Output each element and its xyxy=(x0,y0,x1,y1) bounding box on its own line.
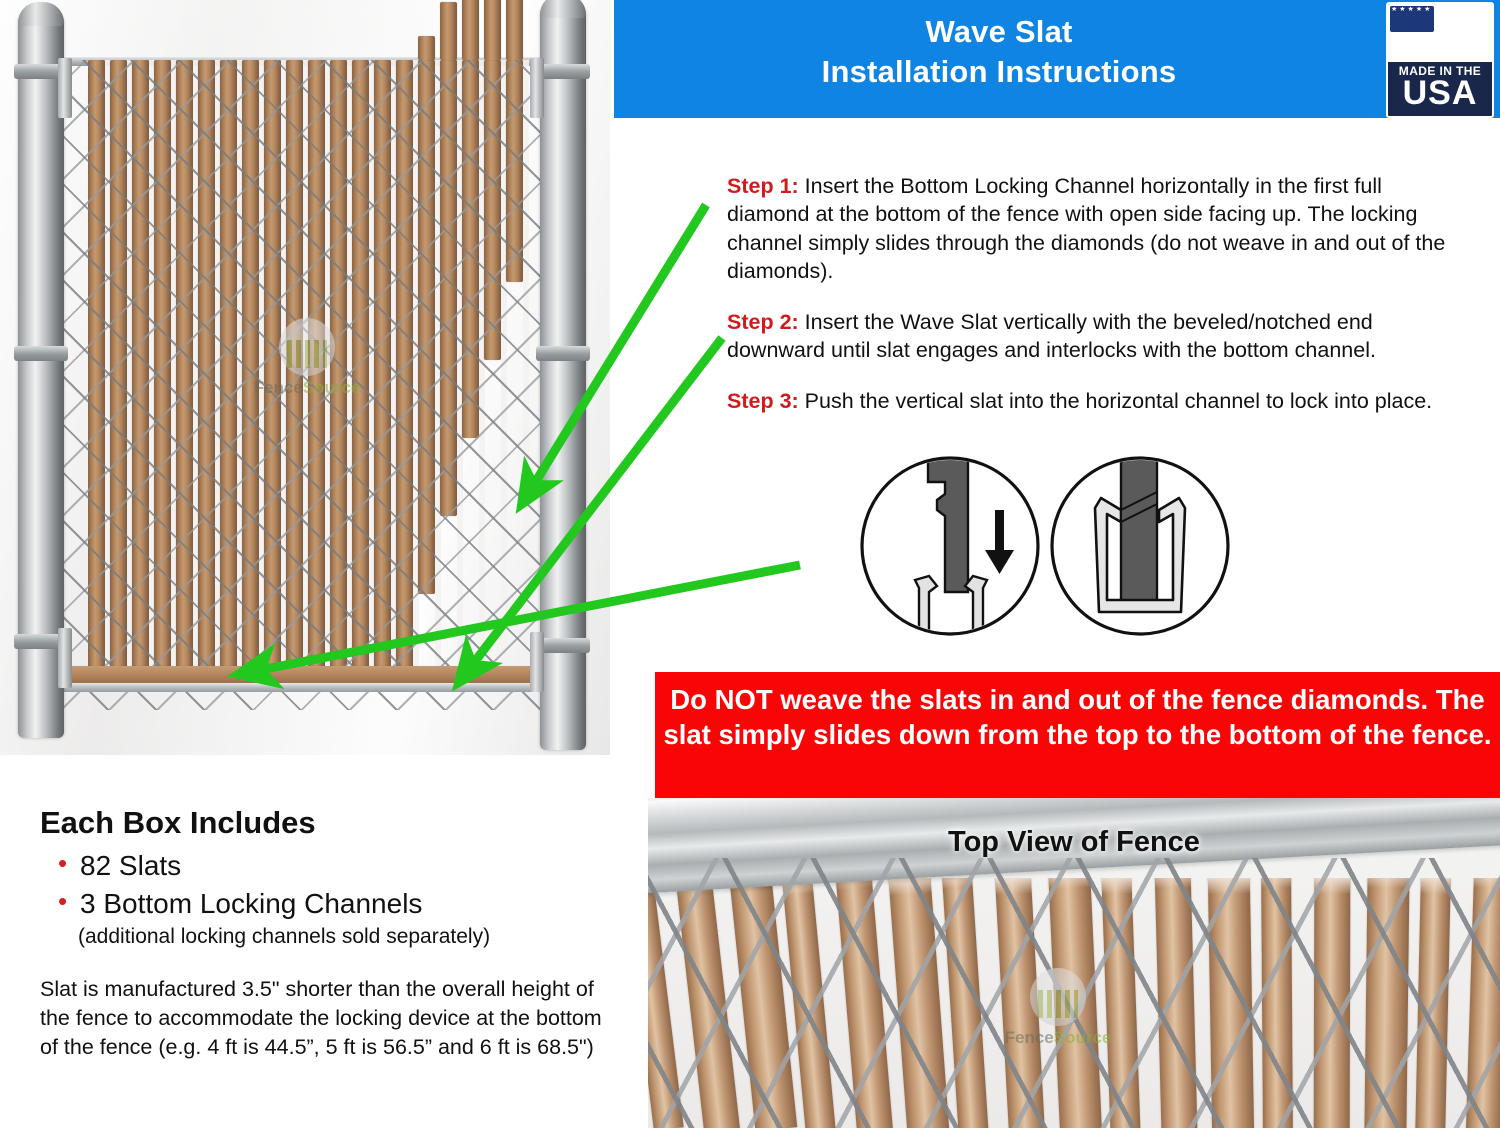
step-1-text: Insert the Bottom Locking Channel horizo… xyxy=(727,174,1445,284)
badge-line-2: USA xyxy=(1388,76,1492,110)
post-brace xyxy=(530,632,544,692)
title-line-1: Wave Slat xyxy=(614,12,1384,52)
wave-slat-above-rail xyxy=(440,2,457,60)
usa-flag-icon: ★★★★★★★★★★★★★★★★★★★★★★★★ xyxy=(1388,4,1492,62)
post-band xyxy=(536,638,590,653)
box-contents-note: (additional locking channels sold separa… xyxy=(78,925,610,949)
slat-locked-in-channel-diagram xyxy=(1052,454,1228,634)
slat-inserting-into-channel-diagram xyxy=(862,454,1038,634)
flag-stars: ★★★★★★★★★★★★★★★★★★★★★★★★ xyxy=(1391,7,1433,31)
warning-text: Do NOT weave the slats in and out of the… xyxy=(655,682,1500,752)
fence-post-right xyxy=(540,8,586,750)
slat-height-note: Slat is manufactured 3.5" shorter than t… xyxy=(40,975,610,1063)
fence-bottom-rail xyxy=(44,683,560,692)
step-1: Step 1: Insert the Bottom Locking Channe… xyxy=(727,172,1451,286)
post-brace xyxy=(530,58,544,118)
made-in-usa-badge: ★★★★★★★★★★★★★★★★★★★★★★★★ MADE IN THE USA xyxy=(1386,2,1494,118)
box-contents-section: Each Box Includes 82 Slats 3 Bottom Lock… xyxy=(40,805,610,1062)
step-1-label: Step 1: xyxy=(727,174,799,198)
wave-slat-above-rail xyxy=(462,0,479,60)
box-contents-item: 82 Slats xyxy=(58,847,610,885)
fence-top-view-closeup-photo: Top View of Fence FenceSource xyxy=(648,798,1500,1128)
fence-post-left xyxy=(18,16,64,738)
step-3-label: Step 3: xyxy=(727,389,799,413)
warning-banner: Do NOT weave the slats in and out of the… xyxy=(655,672,1500,798)
step-3: Step 3: Push the vertical slat into the … xyxy=(727,387,1451,416)
title-line-2: Installation Instructions xyxy=(614,52,1384,92)
post-band xyxy=(536,64,590,79)
post-band xyxy=(536,346,590,361)
step-2: Step 2: Insert the Wave Slat vertically … xyxy=(727,308,1451,365)
post-band xyxy=(14,346,68,361)
chain-link-fence-with-wave-slats-photo: FenceSource xyxy=(0,0,610,755)
locking-mechanism-diagrams xyxy=(855,452,1235,640)
installation-steps: Step 1: Insert the Bottom Locking Channe… xyxy=(727,150,1451,438)
header-banner: Wave Slat Installation Instructions ★★★★… xyxy=(614,0,1500,118)
wave-slat-above-rail xyxy=(506,0,523,60)
top-view-chain-link-mesh xyxy=(648,858,1500,1128)
top-view-label: Top View of Fence xyxy=(648,826,1500,859)
wave-slat-above-rail xyxy=(484,0,501,60)
step-2-label: Step 2: xyxy=(727,310,799,334)
page-title: Wave Slat Installation Instructions xyxy=(614,12,1384,91)
box-contents-item: 3 Bottom Locking Channels xyxy=(58,885,610,923)
step-2-text: Insert the Wave Slat vertically with the… xyxy=(727,310,1376,363)
bottom-locking-channel xyxy=(64,666,544,683)
post-cap-right xyxy=(540,0,586,18)
post-brace xyxy=(58,58,72,118)
wave-slat-above-rail xyxy=(418,36,435,60)
chain-link-mesh xyxy=(36,60,566,710)
post-brace xyxy=(58,628,72,688)
step-3-text: Push the vertical slat into the horizont… xyxy=(805,389,1432,413)
box-contents-title: Each Box Includes xyxy=(40,805,610,841)
